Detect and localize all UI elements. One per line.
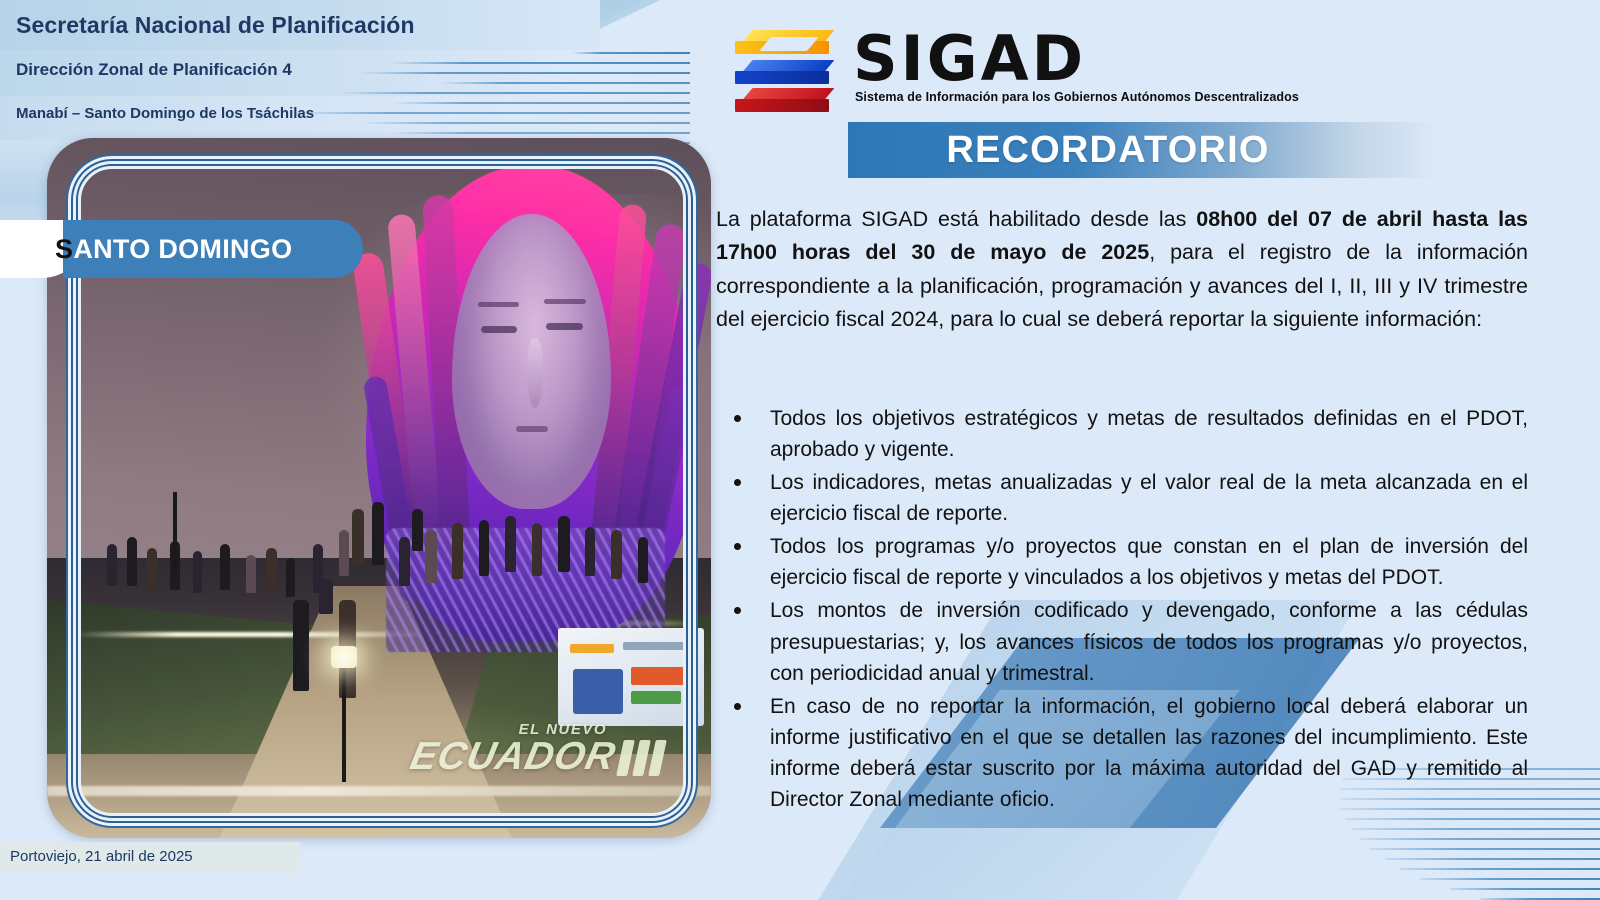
crowd-person xyxy=(352,509,364,565)
recordatorio-title: RECORDATORIO xyxy=(946,129,1269,172)
logo-layer-red xyxy=(735,88,841,112)
crowd-person xyxy=(479,520,490,576)
requirements-bullet-list: Todos los objetivos estratégicos y metas… xyxy=(716,403,1528,817)
zone-subtitle: Dirección Zonal de Planificación 4 xyxy=(16,60,292,80)
provinces-subtitle: Manabí – Santo Domingo de los Tsáchilas xyxy=(16,105,314,122)
monument-eye-left xyxy=(481,326,518,333)
crowd-person xyxy=(558,516,569,572)
crowd-person xyxy=(585,527,596,576)
crowd-person xyxy=(339,530,349,576)
crowd-person xyxy=(611,530,622,579)
caption-rest: ANTO DOMINGO xyxy=(73,234,292,265)
crowd-person xyxy=(319,579,332,614)
crowd-person xyxy=(220,544,230,590)
page-title: Secretaría Nacional de Planificación xyxy=(16,12,415,39)
crowd-person xyxy=(246,555,256,594)
crowd-person xyxy=(399,537,410,586)
intro-paragraph: La plataforma SIGAD está habilitado desd… xyxy=(716,203,1528,336)
crowd-person xyxy=(193,551,202,593)
bullet-item: Todos los objetivos estratégicos y metas… xyxy=(716,403,1528,465)
footer-band: Portoviejo, 21 abril de 2025 xyxy=(0,842,300,874)
crowd-person xyxy=(266,548,277,594)
crowd-person xyxy=(638,537,648,583)
lamp-post-foreground xyxy=(342,663,346,782)
crowd-person xyxy=(532,523,543,576)
sigad-wordmark: SIGAD xyxy=(853,28,1086,90)
crowd-person xyxy=(372,502,383,565)
crowd-person xyxy=(107,544,117,586)
crowd-person xyxy=(147,548,157,590)
crowd-person xyxy=(452,523,463,579)
slide-canvas: Secretaría Nacional de Planificación Dir… xyxy=(0,0,1600,900)
monument-eye-right xyxy=(546,323,583,330)
lamp-head-foreground xyxy=(331,646,357,668)
sigad-logo-stack-icon xyxy=(735,30,847,118)
recordatorio-banner: RECORDATORIO xyxy=(848,122,1438,178)
crowd-person xyxy=(412,509,423,551)
bullet-item: Los indicadores, metas anualizadas y el … xyxy=(716,467,1528,529)
intro-text-part1: La plataforma SIGAD está habilitado desd… xyxy=(716,207,1196,231)
monument-brow-left xyxy=(478,302,519,307)
event-sign xyxy=(558,628,704,726)
crowd-person xyxy=(505,516,516,572)
lamp-post-background xyxy=(173,492,177,576)
crowd-person xyxy=(293,600,309,691)
monument-brow-right xyxy=(544,299,585,304)
bullet-item: En caso de no reportar la información, e… xyxy=(716,691,1528,815)
crowd-person xyxy=(127,537,138,586)
plaza-curb xyxy=(47,786,711,796)
caption-initial: S xyxy=(55,234,73,265)
bullet-item: Los montos de inversión codificado y dev… xyxy=(716,595,1528,688)
monument-mouth xyxy=(516,426,548,432)
footer-place-date: Portoviejo, 21 abril de 2025 xyxy=(10,848,193,865)
sigad-tagline: Sistema de Información para los Gobierno… xyxy=(855,90,1299,104)
photo-caption: SANTO DOMINGO xyxy=(55,220,292,278)
sigad-logo: SIGAD Sistema de Información para los Go… xyxy=(735,28,1205,120)
bullet-item: Todos los programas y/o proyectos que co… xyxy=(716,531,1528,593)
logo-layer-blue xyxy=(735,60,841,84)
crowd-person xyxy=(425,530,436,583)
monument-nose xyxy=(527,338,543,409)
crowd-person xyxy=(286,558,295,597)
